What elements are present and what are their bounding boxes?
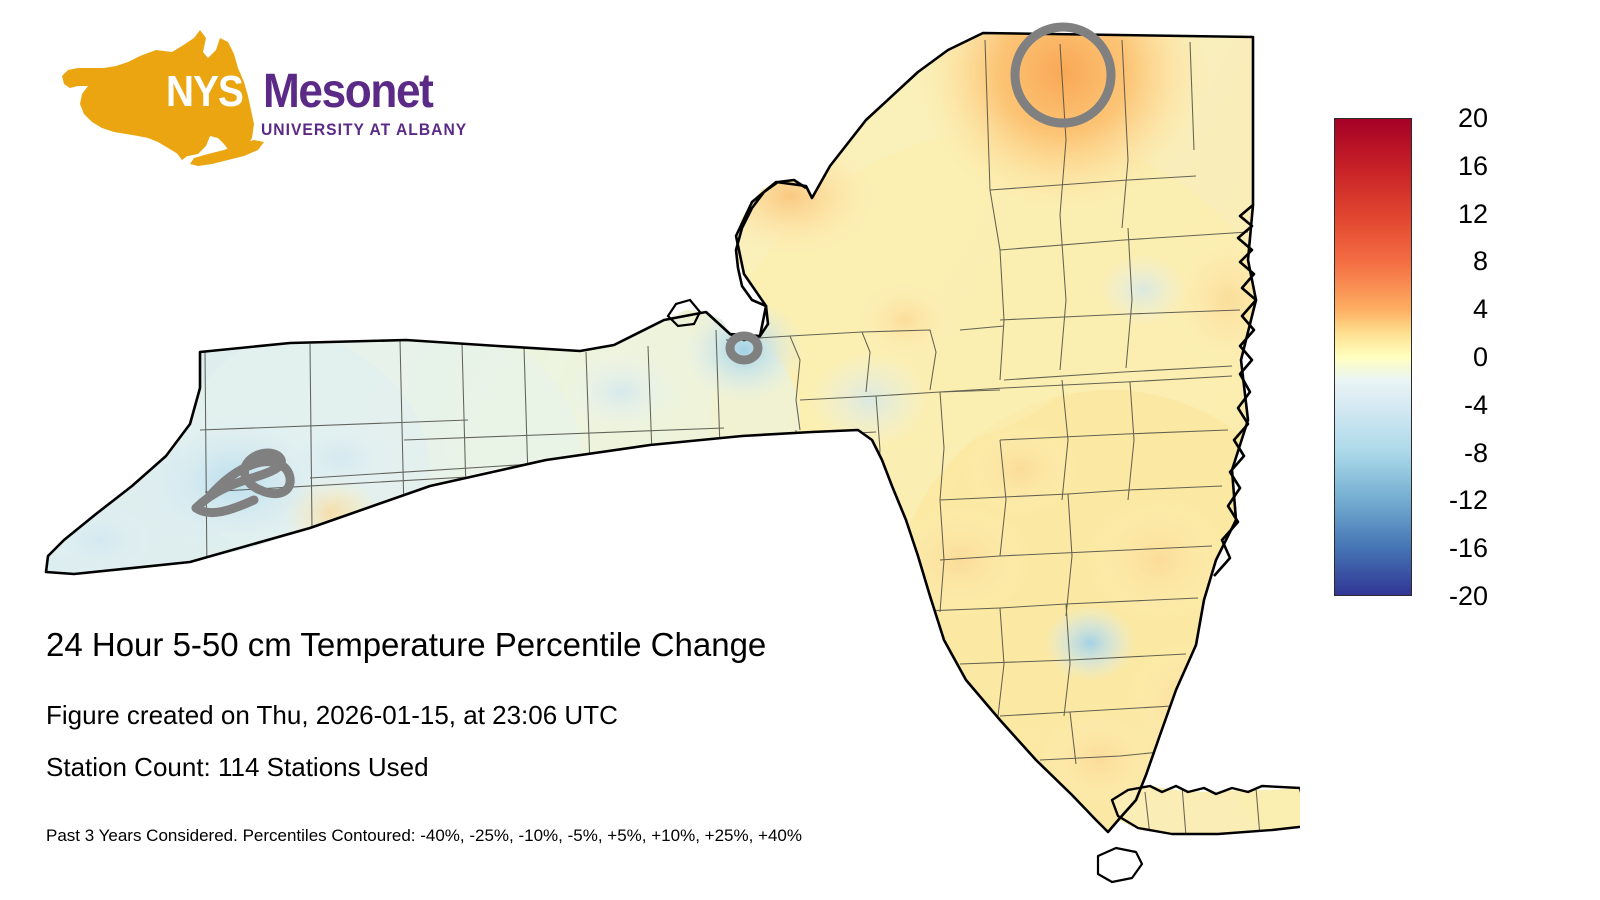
colorbar-tick-neg8: -8	[1418, 440, 1488, 467]
figure-canvas: NYSMesonet UNIVERSITY AT ALBANY 20161284…	[0, 0, 1600, 900]
colorbar-tick-20: 20	[1418, 105, 1488, 132]
colorbar-tick-12: 12	[1418, 201, 1488, 228]
colorbar-tick-16: 16	[1418, 153, 1488, 180]
colorbar-tick-labels: 201612840-4-8-12-16-20	[1418, 104, 1494, 614]
nys-mesonet-logo: NYSMesonet UNIVERSITY AT ALBANY	[48, 28, 400, 188]
colorbar-tick-8: 8	[1418, 248, 1488, 275]
colorbar-tick-0: 0	[1418, 344, 1488, 371]
logo-nys-text: NYS	[166, 64, 243, 120]
station-count-label: Station Count: 114 Stations Used	[46, 752, 429, 783]
colorbar-gradient	[1334, 118, 1412, 596]
staten-island-outline	[1098, 848, 1142, 882]
colorbar	[1334, 118, 1412, 596]
colorbar-tick-neg4: -4	[1418, 392, 1488, 419]
logo-mesonet-text: Mesonet	[263, 64, 432, 120]
figure-footnote: Past 3 Years Considered. Percentiles Con…	[46, 826, 802, 846]
colorbar-tick-neg12: -12	[1418, 487, 1488, 514]
colorbar-tick-neg20: -20	[1418, 583, 1488, 610]
logo-wordmark: NYSMesonet	[166, 64, 446, 120]
colorbar-tick-4: 4	[1418, 296, 1488, 323]
logo-university-subtitle: UNIVERSITY AT ALBANY	[261, 120, 467, 140]
figure-created-timestamp: Figure created on Thu, 2026-01-15, at 23…	[46, 700, 618, 731]
colorbar-tick-neg16: -16	[1418, 535, 1488, 562]
figure-title: 24 Hour 5-50 cm Temperature Percentile C…	[46, 626, 766, 664]
